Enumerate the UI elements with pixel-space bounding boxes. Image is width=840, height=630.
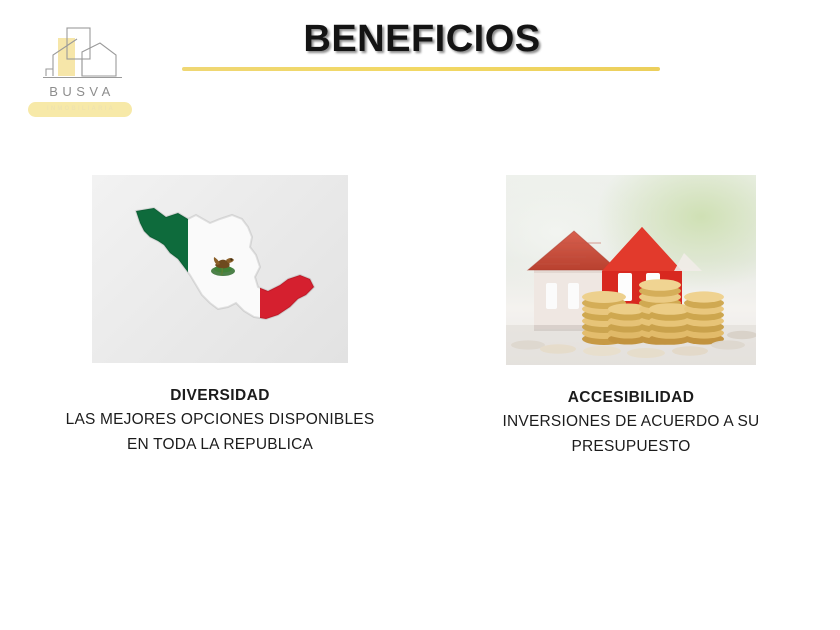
slide-canvas: BUSVA INMOBILIARIA BENEFICIOS [0, 0, 840, 630]
mexico-flag-map-image [92, 175, 348, 363]
busva-building-logo-icon [20, 22, 140, 88]
caption-accesibilidad: ACCESIBILIDAD INVERSIONES DE ACUERDO A S… [440, 387, 822, 459]
mexico-map-shape [92, 175, 348, 363]
caption-heading: ACCESIBILIDAD [440, 387, 822, 409]
logo-wordmark: BUSVA [20, 84, 140, 99]
caption-line-2: PRESUPUESTO [440, 434, 822, 459]
house-and-coins-illustration [506, 175, 756, 365]
house-and-coins-image [506, 175, 756, 365]
caption-heading: DIVERSIDAD [18, 385, 422, 407]
page-title: BENEFICIOS [182, 18, 662, 61]
caption-diversidad: DIVERSIDAD LAS MEJORES OPCIONES DISPONIB… [18, 385, 422, 457]
benefit-column-accesibilidad: ACCESIBILIDAD INVERSIONES DE ACUERDO A S… [440, 175, 822, 459]
logo-subtext: INMOBILIARIA [28, 103, 132, 116]
caption-line-1: INVERSIONES DE ACUERDO A SU [440, 409, 822, 434]
title-underline-rule [182, 67, 660, 71]
busva-logo: BUSVA INMOBILIARIA [20, 22, 140, 122]
benefit-column-diversidad: DIVERSIDAD LAS MEJORES OPCIONES DISPONIB… [18, 175, 422, 457]
caption-line-2: EN TODA LA REPUBLICA [18, 432, 422, 457]
caption-line-1: LAS MEJORES OPCIONES DISPONIBLES [18, 407, 422, 432]
